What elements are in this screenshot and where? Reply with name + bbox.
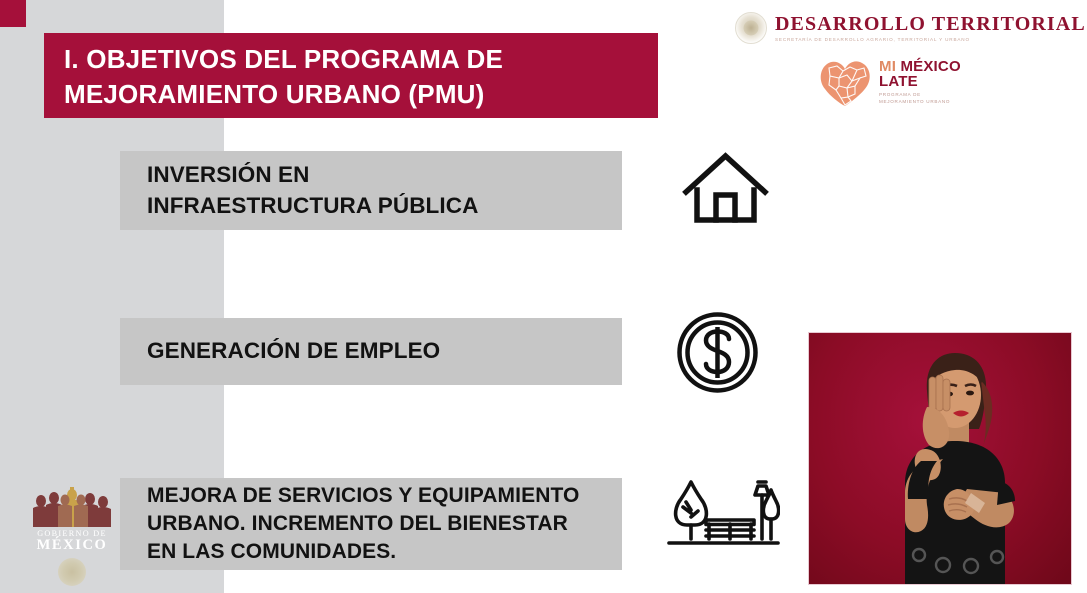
objective-label-2: GENERACIÓN DE EMPLEO: [147, 336, 440, 366]
objective-label-1: INVERSIÓN EN INFRAESTRUCTURA PÚBLICA: [147, 160, 478, 220]
page-title: I. OBJETIVOS DEL PROGRAMA DE MEJORAMIENT…: [64, 42, 638, 111]
house-icon: [678, 148, 773, 233]
logo-group: DESARROLLO TERRITORIAL SECRETARÍA DE DES…: [735, 12, 1035, 117]
mml-late-word: LATE: [879, 74, 961, 89]
mexico-map-heart-icon: [817, 56, 873, 108]
mml-tagline: PROGRAMA DE MEJORAMIENTO URBANO: [879, 92, 961, 105]
coin-dollar-icon: [675, 310, 760, 395]
gobierno-line2: MÉXICO: [24, 538, 120, 554]
gobierno-seal-icon: [58, 558, 86, 586]
objective-box-1: INVERSIÓN EN INFRAESTRUCTURA PÚBLICA: [120, 151, 622, 230]
gobierno-de-mexico-logo: GOBIERNO DE MÉXICO: [24, 487, 120, 583]
sedatu-subtitle: SECRETARÍA DE DESARROLLO AGRARIO, TERRIT…: [775, 38, 1086, 43]
corner-accent-square: [0, 0, 26, 27]
slide-header-bar: I. OBJETIVOS DEL PROGRAMA DE MEJORAMIENT…: [44, 33, 658, 118]
mml-mexico-word: MÉXICO: [900, 58, 960, 75]
presentation-slide: I. OBJETIVOS DEL PROGRAMA DE MEJORAMIENT…: [0, 0, 1087, 593]
objective-box-2: GENERACIÓN DE EMPLEO: [120, 318, 622, 385]
park-bench-trees-icon: [665, 477, 780, 559]
historical-figures-icon: [24, 487, 120, 527]
interpreter-figure: [809, 333, 1072, 585]
objective-box-3: MEJORA DE SERVICIOS Y EQUIPAMIENTO URBAN…: [120, 478, 622, 570]
sign-language-interpreter-video[interactable]: [808, 332, 1072, 585]
mi-mexico-late-logo: MI MÉXICO LATE PROGRAMA DE MEJORAMIENTO …: [817, 56, 1035, 108]
mexican-coat-of-arms-seal-icon: [735, 12, 767, 44]
mml-mi-word: MI: [879, 58, 900, 75]
objective-label-3: MEJORA DE SERVICIOS Y EQUIPAMIENTO URBAN…: [147, 482, 579, 566]
sedatu-logo: DESARROLLO TERRITORIAL SECRETARÍA DE DES…: [735, 12, 1035, 44]
sedatu-title: DESARROLLO TERRITORIAL: [775, 14, 1086, 34]
